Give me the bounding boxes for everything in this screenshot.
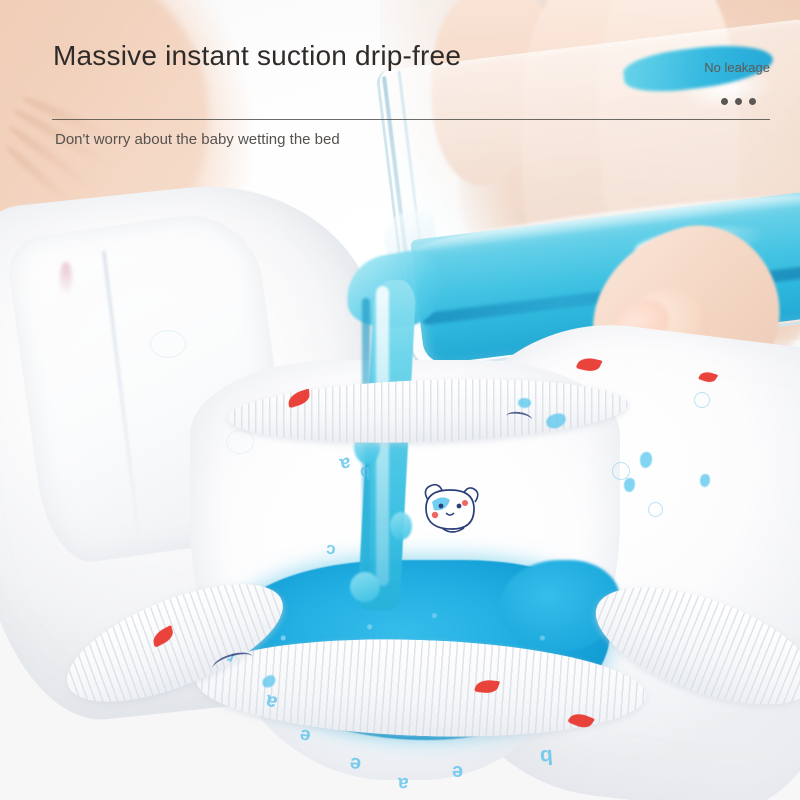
dot-3 [749,98,756,105]
stream-head [340,246,447,336]
dot-2 [735,98,742,105]
faint-print-motif [694,392,710,408]
letter-print: a [338,451,353,475]
letter-print: e [298,723,312,747]
decorative-dots [721,98,756,105]
beaker-edge-highlight [382,76,416,325]
pouring-liquid-stream [340,280,450,610]
faint-print-motif [150,330,186,358]
product-image-canvas: a b c a e e a e b r Massive instant suct… [0,0,800,800]
faint-print-motif [226,430,254,454]
page-subtitle: Don't worry about the baby wetting the b… [55,131,340,148]
beaker-spout [381,209,439,271]
beaker-edge-highlight [397,70,432,328]
faint-print-motif [648,502,663,517]
diaper-absorbent-pad [4,206,297,568]
letter-print: e [349,751,362,775]
faint-print-motif [612,462,630,480]
letter-print: e [452,760,463,783]
letter-print: b [539,744,553,769]
diaper-seam [102,251,143,549]
letter-print: c [325,540,337,561]
blue-print-motif [640,452,652,468]
stream-body [357,280,416,610]
diaper-waistband-top [227,373,629,449]
blue-print-motif [624,478,635,492]
letter-print: a [398,772,409,794]
no-leakage-badge: No leakage [704,60,770,75]
header-divider [52,119,770,120]
letter-print: b [360,462,371,482]
blue-print-motif [700,474,710,487]
stream-droplet [390,512,412,540]
stream-droplet [350,572,380,602]
dot-1 [721,98,728,105]
stream-shadow-edge [362,298,370,588]
pad-pink-mark [60,262,72,296]
page-title: Massive instant suction drip-free [53,40,461,72]
bear-print-icon [418,478,486,540]
